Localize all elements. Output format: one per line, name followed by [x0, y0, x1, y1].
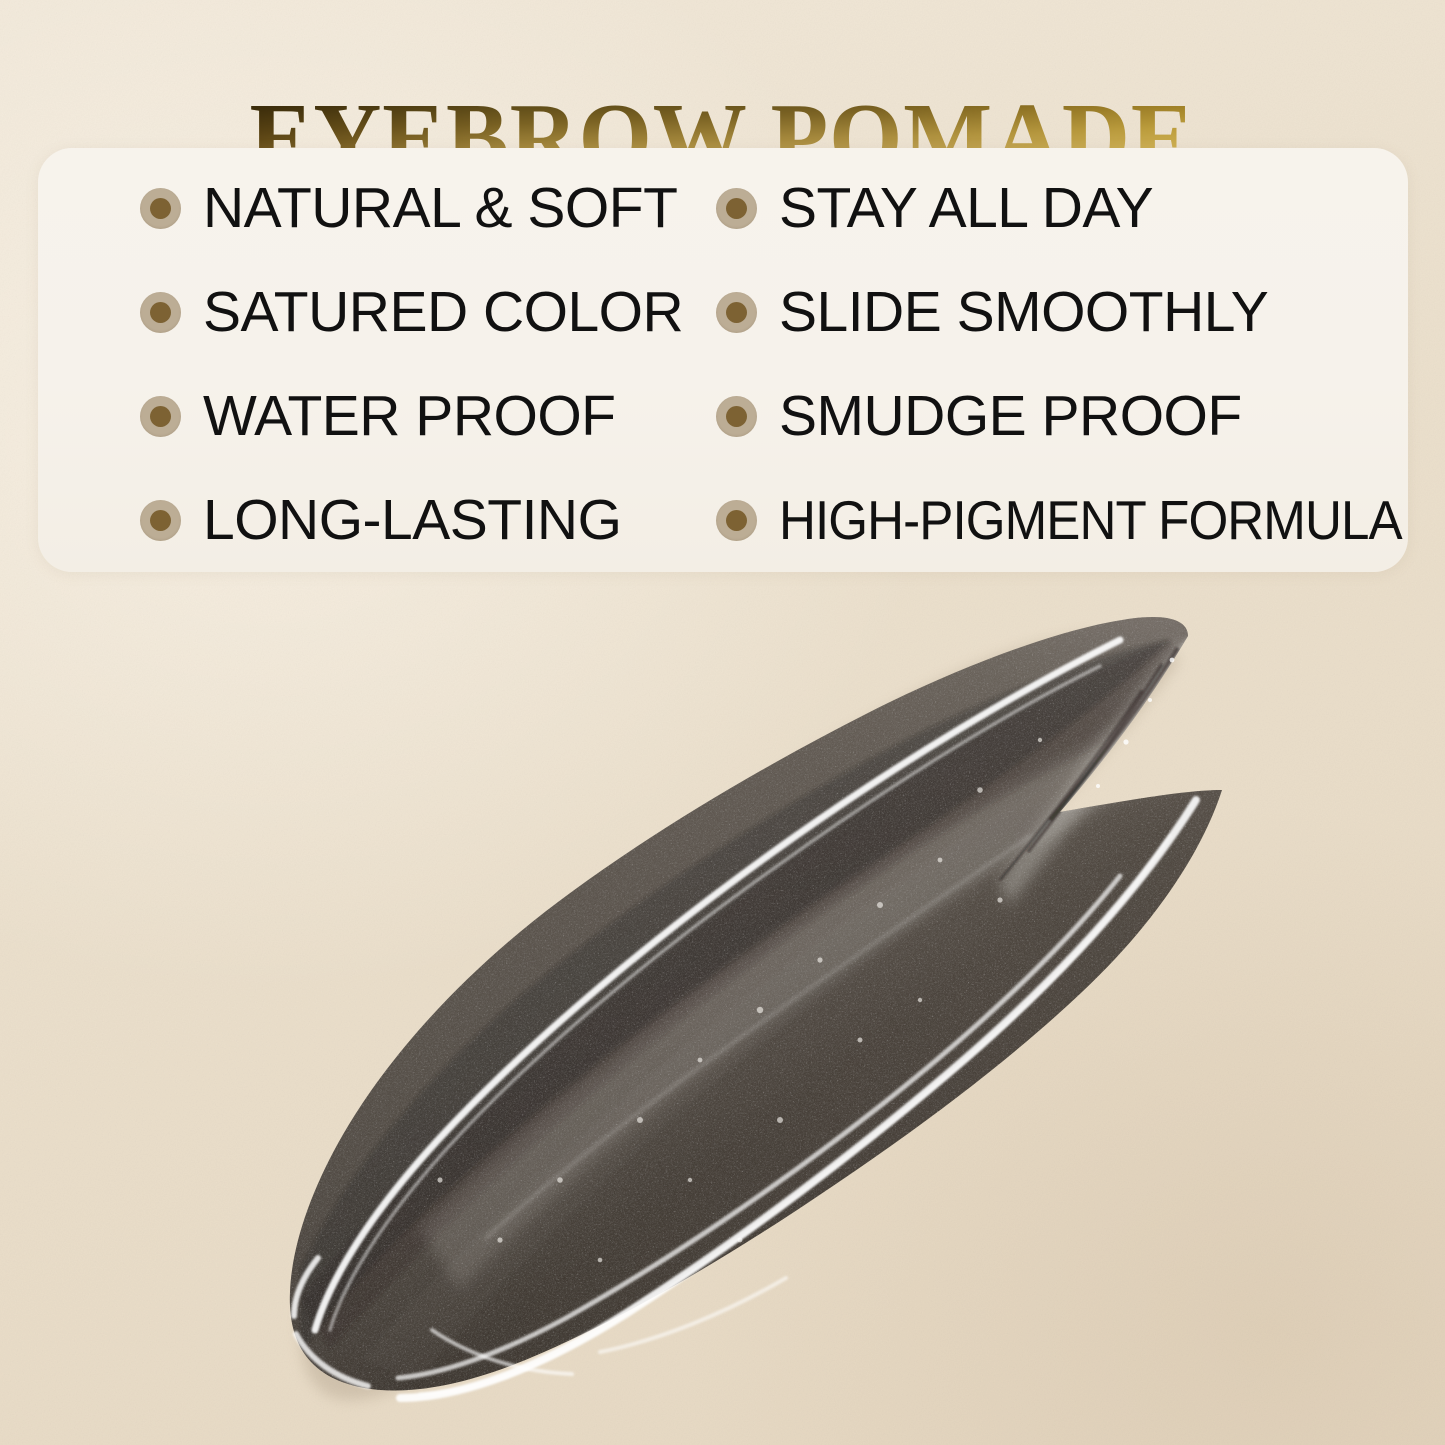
product-marketing-image: EYEBROW POMADE NATURAL & SOFT STAY ALL D… [0, 0, 1445, 1445]
feature-item-natural-soft: NATURAL & SOFT [38, 156, 704, 260]
bullet-dot-icon [140, 396, 181, 437]
bullet-dot-icon [716, 292, 757, 333]
feature-label: HIGH-PIGMENT FORMULA [779, 493, 1402, 548]
feature-item-high-pigment-formula: HIGH-PIGMENT FORMULA [704, 468, 1408, 572]
feature-item-satured-color: SATURED COLOR [38, 260, 704, 364]
feature-label: SMUDGE PROOF [779, 388, 1242, 445]
feature-label: LONG-LASTING [203, 492, 621, 549]
feature-label: WATER PROOF [203, 388, 615, 445]
feature-item-long-lasting: LONG-LASTING [38, 468, 704, 572]
bullet-dot-icon [140, 188, 181, 229]
bullet-dot-icon [716, 396, 757, 437]
bullet-dot-icon [140, 292, 181, 333]
feature-label: STAY ALL DAY [779, 180, 1153, 237]
feature-item-water-proof: WATER PROOF [38, 364, 704, 468]
feature-item-smudge-proof: SMUDGE PROOF [704, 364, 1408, 468]
swatch-shadow [300, 634, 1180, 1400]
feature-item-slide-smoothly: SLIDE SMOOTHLY [704, 260, 1408, 364]
feature-list-card: NATURAL & SOFT STAY ALL DAY SATURED COLO… [38, 148, 1408, 572]
swatch-highlights [294, 640, 1196, 1398]
feature-label: SLIDE SMOOTHLY [779, 284, 1268, 341]
bullet-dot-icon [140, 500, 181, 541]
bullet-dot-icon [716, 500, 757, 541]
swatch-tip-glints [1096, 658, 1174, 788]
bullet-dot-icon [716, 188, 757, 229]
feature-grid: NATURAL & SOFT STAY ALL DAY SATURED COLO… [38, 148, 1408, 572]
feature-label: NATURAL & SOFT [203, 180, 677, 237]
feature-label: SATURED COLOR [203, 284, 683, 341]
feature-item-stay-all-day: STAY ALL DAY [704, 156, 1408, 260]
